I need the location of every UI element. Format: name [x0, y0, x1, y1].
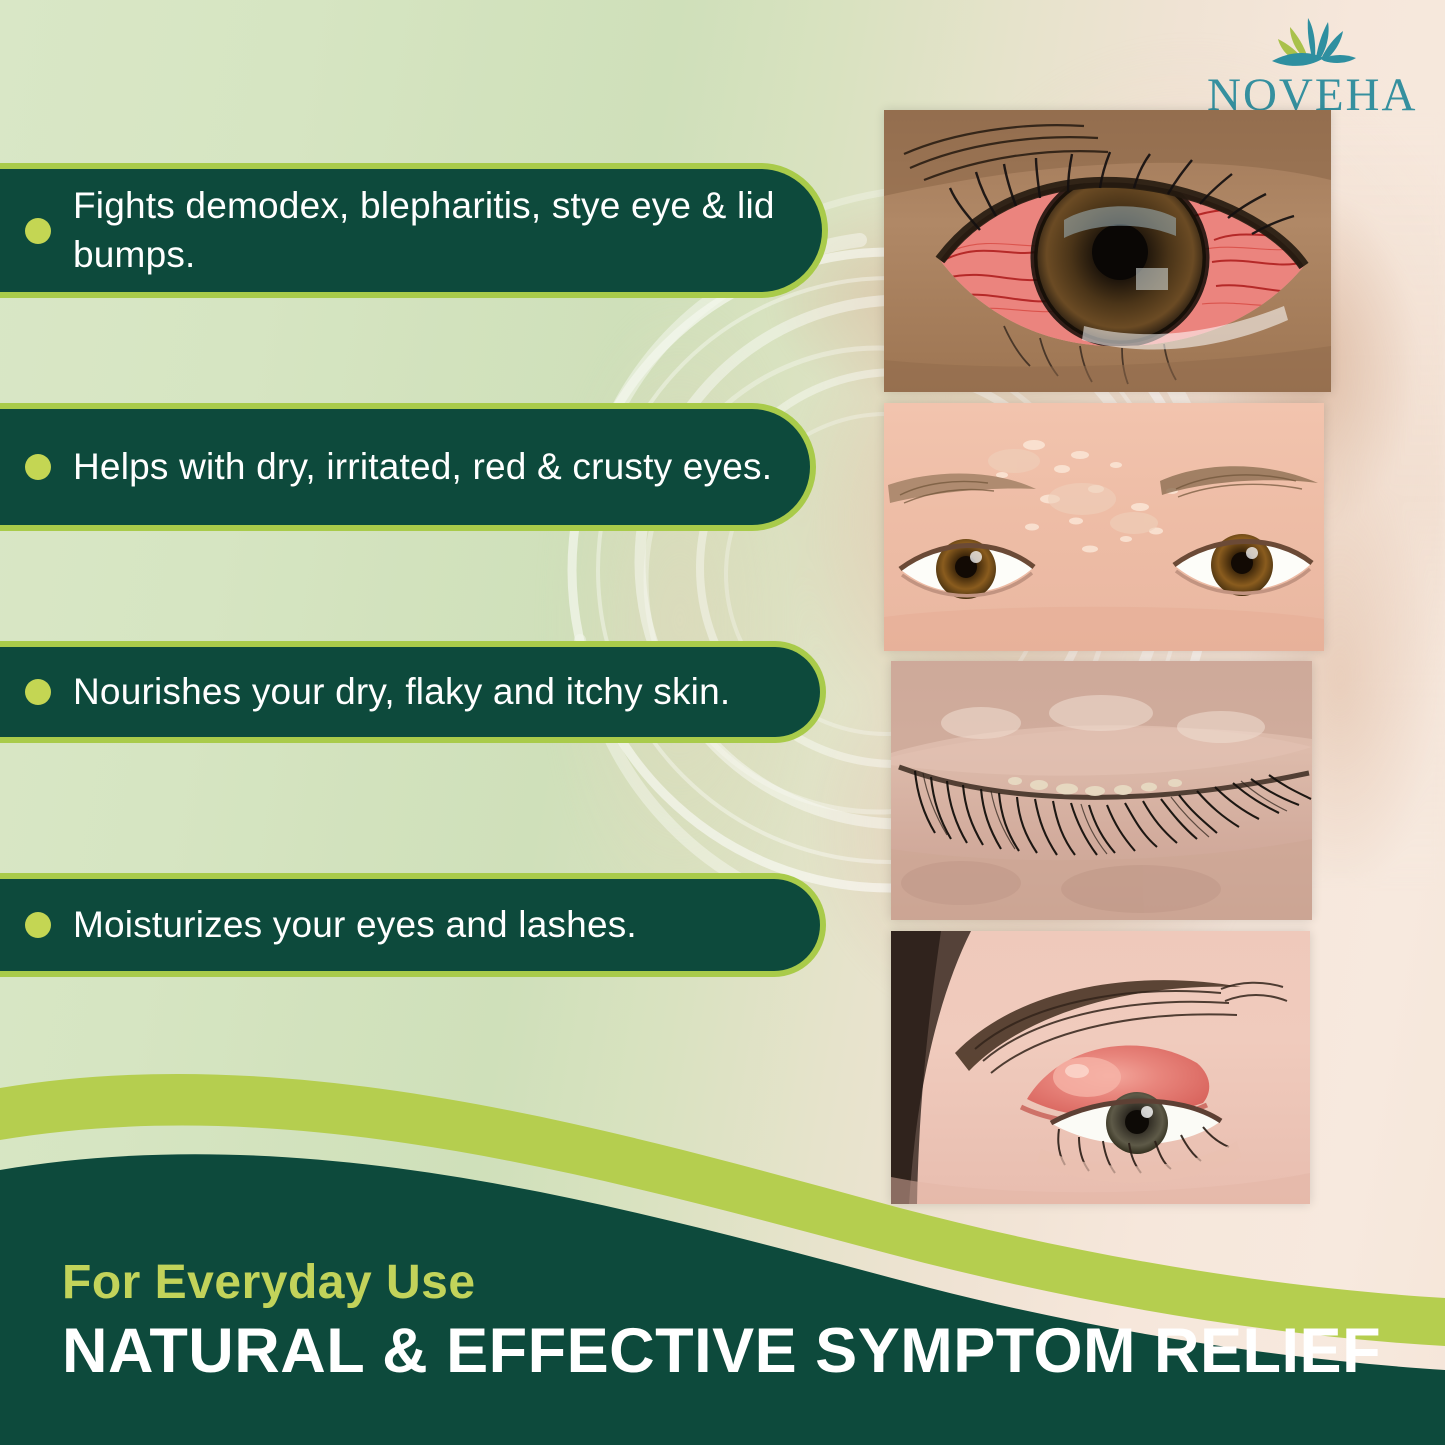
benefit-text-4: Moisturizes your eyes and lashes. [73, 901, 637, 949]
benefit-text-3: Nourishes your dry, flaky and itchy skin… [73, 668, 730, 716]
benefit-text-1: Fights demodex, blepharitis, stye eye & … [73, 182, 788, 278]
leaf-fan-icon [1262, 14, 1362, 70]
dot-bullet-icon [25, 218, 51, 244]
dot-bullet-icon [25, 454, 51, 480]
footer-text-block: For Everyday Use NATURAL & EFFECTIVE SYM… [62, 1258, 1412, 1385]
photo-dry-flaky-brow-skin [884, 403, 1324, 651]
benefit-pill-4[interactable]: Moisturizes your eyes and lashes. [0, 873, 826, 977]
photo-red-bloodshot-eye [884, 110, 1331, 392]
benefit-text-2: Helps with dry, irritated, red & crusty … [73, 443, 772, 491]
photo-crusty-eyelashes [891, 661, 1312, 920]
product-feature-graphic: NOVEHA [0, 0, 1445, 1445]
footer-headline: NATURAL & EFFECTIVE SYMPTOM RELIEF [62, 1318, 1412, 1384]
benefit-pill-3[interactable]: Nourishes your dry, flaky and itchy skin… [0, 641, 826, 743]
benefit-pill-2[interactable]: Helps with dry, irritated, red & crusty … [0, 403, 816, 531]
dot-bullet-icon [25, 679, 51, 705]
footer-eyebrow: For Everyday Use [62, 1258, 1412, 1308]
brand-logo: NOVEHA [1207, 14, 1417, 119]
benefit-pill-1[interactable]: Fights demodex, blepharitis, stye eye & … [0, 163, 828, 298]
dot-bullet-icon [25, 912, 51, 938]
